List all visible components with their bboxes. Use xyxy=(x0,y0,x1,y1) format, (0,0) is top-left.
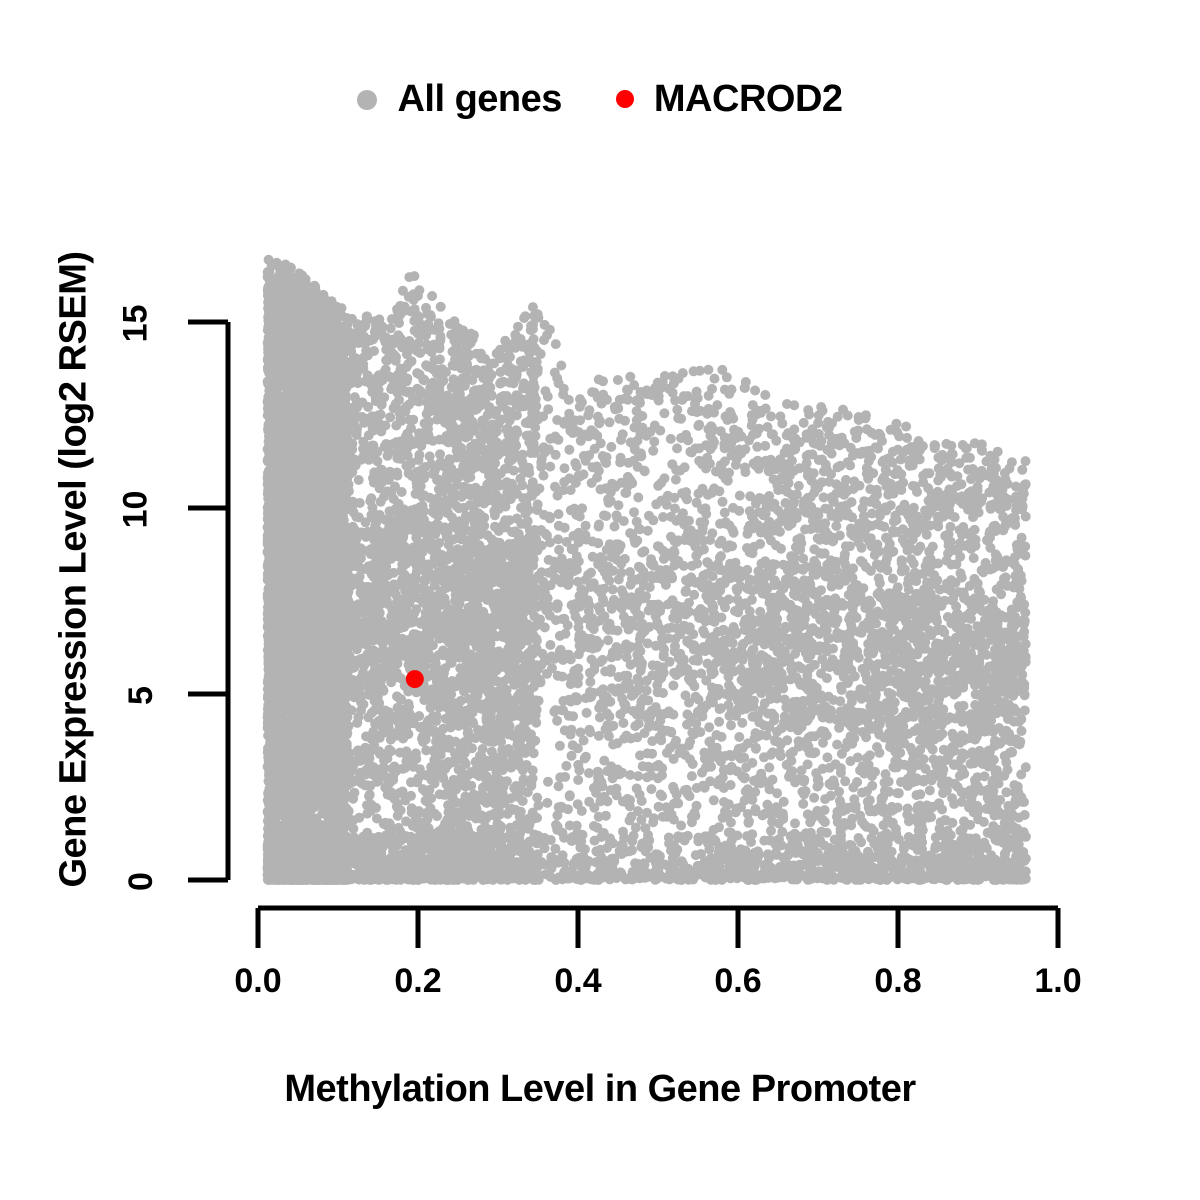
x-tick-label-3: 0.6 xyxy=(714,962,761,1001)
x-tick-label-5: 1.0 xyxy=(1034,962,1081,1001)
legend-label-macrod2: MACROD2 xyxy=(654,78,843,121)
y-axis-title: Gene Expression Level (log2 RSEM) xyxy=(53,170,96,970)
legend-label-all-genes: All genes xyxy=(397,78,561,121)
x-tick-label-4: 0.8 xyxy=(874,962,921,1001)
circle-red-icon xyxy=(616,90,634,108)
data-points-layer xyxy=(263,255,1031,885)
chart-legend: All genes MACROD2 xyxy=(0,78,1200,121)
highlight-point-layer xyxy=(406,670,424,688)
circle-grey-icon xyxy=(357,90,377,110)
legend-entry-macrod2: MACROD2 xyxy=(616,78,843,121)
y-tick-label-10: 10 xyxy=(116,491,155,529)
x-tick-label-1: 0.2 xyxy=(394,962,441,1001)
scatter-plot-figure: All genes MACROD2 0.0 0.2 0.4 0. xyxy=(0,0,1200,1200)
y-tick-label-5: 5 xyxy=(122,686,161,705)
highlight-point-macrod2 xyxy=(406,670,424,688)
x-axis-title: Methylation Level in Gene Promoter xyxy=(0,1068,1200,1111)
legend-entry-all-genes: All genes xyxy=(357,78,561,121)
x-tick-label-0: 0.0 xyxy=(234,962,281,1001)
y-tick-label-0: 0 xyxy=(122,872,161,891)
x-tick-label-2: 0.4 xyxy=(554,962,601,1001)
plot-canvas xyxy=(0,0,1200,1200)
y-tick-label-15: 15 xyxy=(116,305,155,343)
